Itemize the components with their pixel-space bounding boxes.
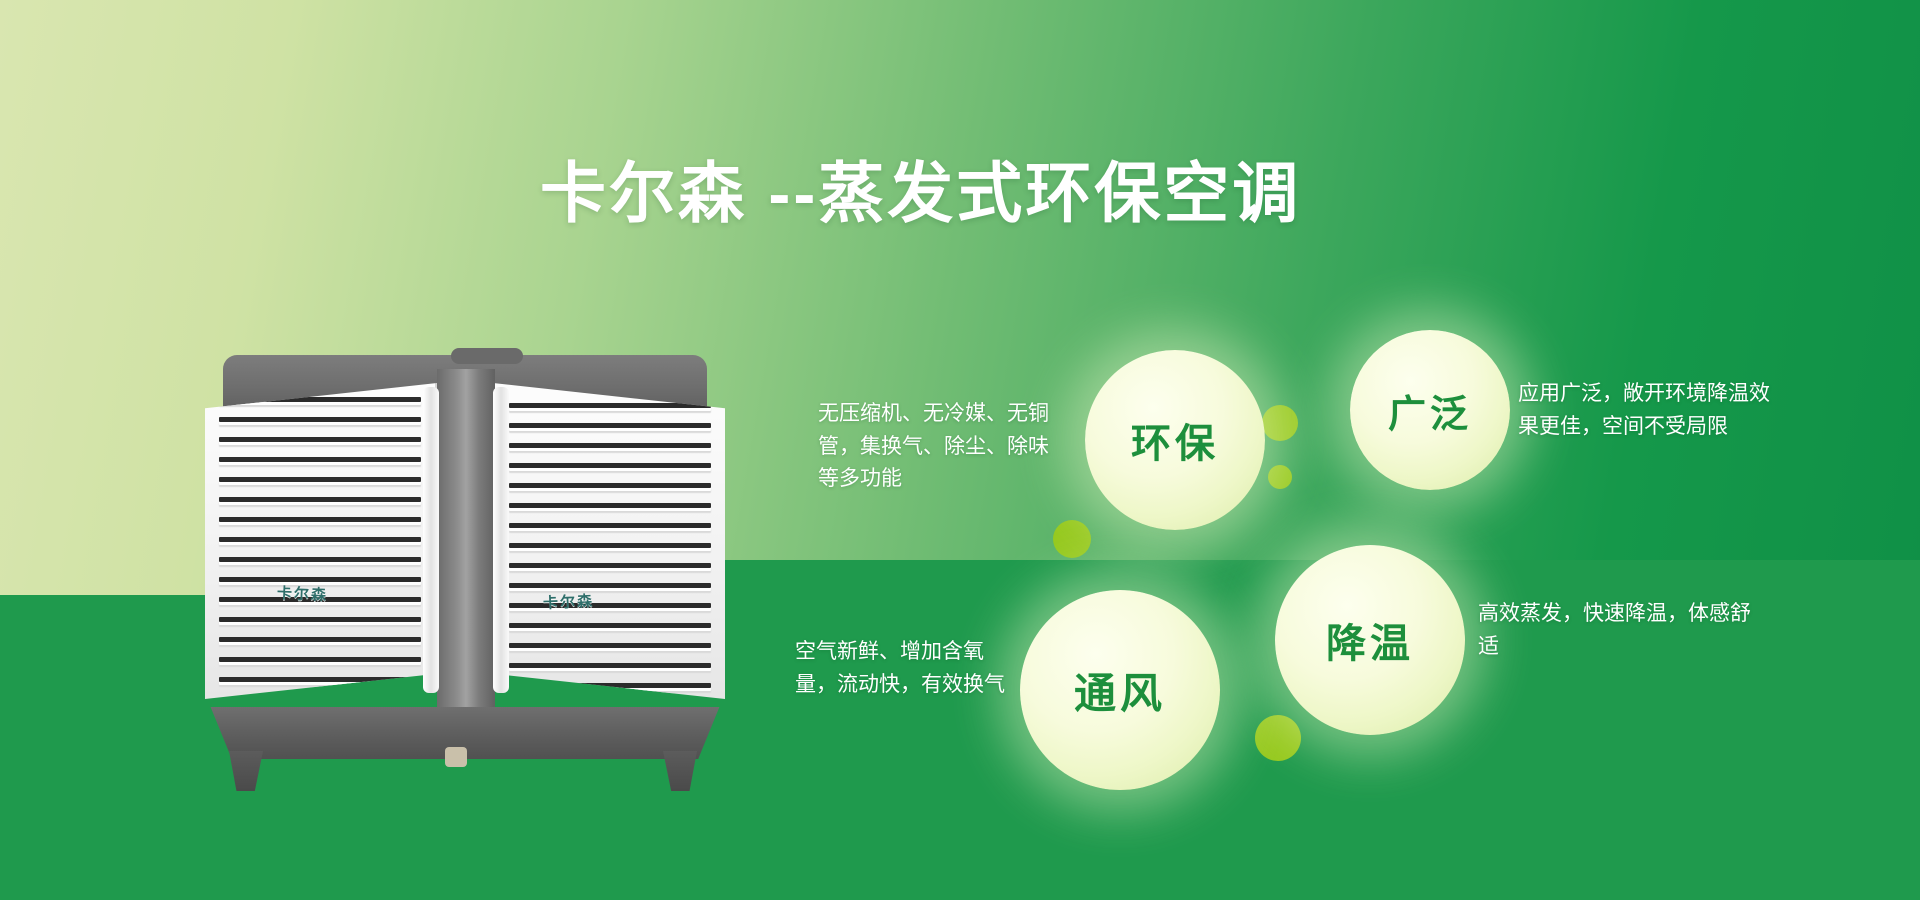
feature-circle-ventilation: 通风 [1020, 590, 1220, 790]
product-brand-label-left: 卡尔森 [277, 582, 329, 605]
product-edge-rail-right [493, 387, 509, 693]
product-body: 卡尔森 卡尔森 [205, 383, 725, 713]
louver-slats-right [495, 383, 725, 699]
louver-slats-left [205, 383, 435, 699]
product-edge-rail-left [423, 387, 439, 693]
accent-dot-4 [1255, 715, 1301, 761]
accent-dot-3 [1053, 520, 1091, 558]
product-drain-valve [445, 747, 467, 767]
page-title: 卡尔森 --蒸发式环保空调 [540, 140, 1301, 236]
promo-banner: 卡尔森 --蒸发式环保空调 [0, 0, 1920, 900]
accent-dot-2 [1268, 465, 1292, 489]
feature-circle-wide-application: 广泛 [1350, 330, 1510, 490]
feature-description-eco: 无压缩机、无冷媒、无铜管，集换气、除尘、除味等多功能 [818, 398, 1064, 496]
product-image: 卡尔森 卡尔森 [205, 355, 725, 775]
feature-description-wide-application: 应用广泛，敞开环境降温效果更佳，空间不受局限 [1518, 378, 1770, 443]
feature-description-cooling: 高效蒸发，快速降温，体感舒适 [1478, 598, 1758, 663]
product-louver-panel-left [205, 383, 437, 699]
feature-circle-cooling: 降温 [1275, 545, 1465, 735]
feature-description-ventilation: 空气新鲜、增加含氧量，流动快，有效换气 [795, 636, 1023, 701]
product-brand-label-right: 卡尔森 [543, 590, 595, 613]
feature-circle-eco: 环保 [1085, 350, 1265, 530]
product-corner-column [437, 369, 495, 713]
product-top-handle [451, 348, 523, 364]
product-louver-panel-right [493, 383, 725, 699]
accent-dot-1 [1262, 405, 1298, 441]
